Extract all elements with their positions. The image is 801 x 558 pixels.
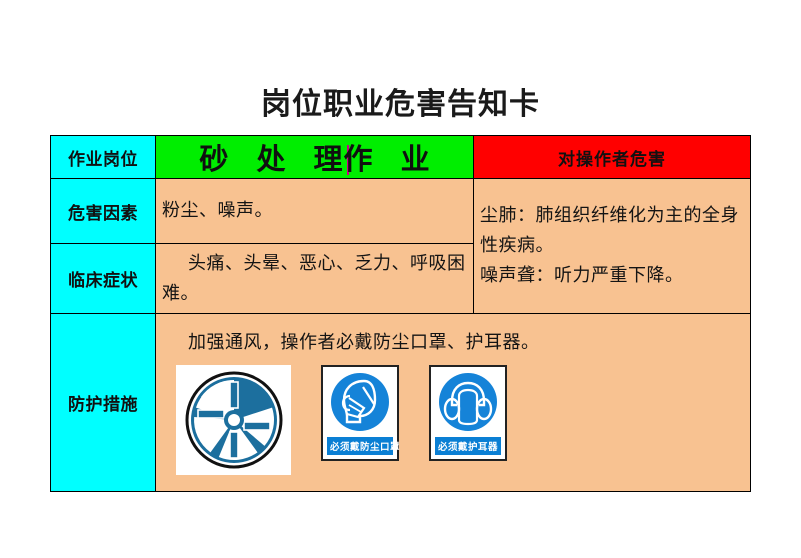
protective-measures-text: 加强通风，操作者必戴防尘口罩、护耳器。: [164, 329, 744, 357]
harm-to-operator-cell[interactable]: 尘肺：肺组织纤维化为主的全身性疾病。 噪声聋：听力严重下降。: [474, 179, 751, 314]
harm-header-cell: 对操作者危害: [474, 136, 751, 179]
post-name-before: 砂 处 理: [199, 142, 351, 176]
ear-protector-icon: [438, 372, 498, 432]
ear-protector-sign-caption: 必须戴护耳器: [435, 437, 501, 455]
row-label-symptoms: 临床症状: [51, 244, 156, 314]
ventilation-fan-icon: [182, 370, 286, 470]
row-label-factors: 危害因素: [51, 179, 156, 244]
table-row-post: 作业岗位 砂 处 理作 业 对操作者危害: [51, 136, 751, 179]
post-name-cell[interactable]: 砂 处 理作 业: [156, 136, 474, 179]
harm-line-pneumoconiosis: 尘肺：肺组织纤维化为主的全身性疾病。: [480, 201, 745, 261]
table-row-factors: 危害因素 粉尘、噪声。 尘肺：肺组织纤维化为主的全身性疾病。 噪声聋：听力严重下…: [51, 179, 751, 244]
page-title: 岗位职业危害告知卡: [0, 86, 801, 124]
ventilation-fan-sign: [176, 365, 291, 475]
hazard-factors-value[interactable]: 粉尘、噪声。: [156, 179, 474, 244]
dust-mask-icon: [330, 372, 390, 432]
harm-line-noise-deafness: 噪声聋：听力严重下降。: [480, 261, 745, 291]
clinical-symptoms-value[interactable]: 头痛、头晕、恶心、乏力、呼吸困难。: [156, 244, 474, 314]
ear-protector-sign: 必须戴护耳器: [429, 365, 507, 461]
protective-measures-cell[interactable]: 加强通风，操作者必戴防尘口罩、护耳器。: [156, 314, 751, 492]
hazard-notification-table: 作业岗位 砂 处 理作 业 对操作者危害 危害因素 粉尘、噪声。 尘肺：肺组织纤…: [50, 135, 751, 492]
post-name-after: 作 业: [344, 142, 439, 176]
row-label-post: 作业岗位: [51, 136, 156, 179]
dust-mask-sign-caption: 必须戴防尘口罩: [327, 437, 393, 455]
row-label-measures: 防护措施: [51, 314, 156, 492]
clinical-symptoms-text: 头痛、头晕、恶心、乏力、呼吸困难。: [162, 249, 468, 309]
safety-signs-row: 必须戴防尘口罩 必须戴护耳器: [164, 365, 744, 475]
dust-mask-sign: 必须戴防尘口罩: [321, 365, 399, 461]
table-row-measures: 防护措施 加强通风，操作者必戴防尘口罩、护耳器。: [51, 314, 751, 492]
